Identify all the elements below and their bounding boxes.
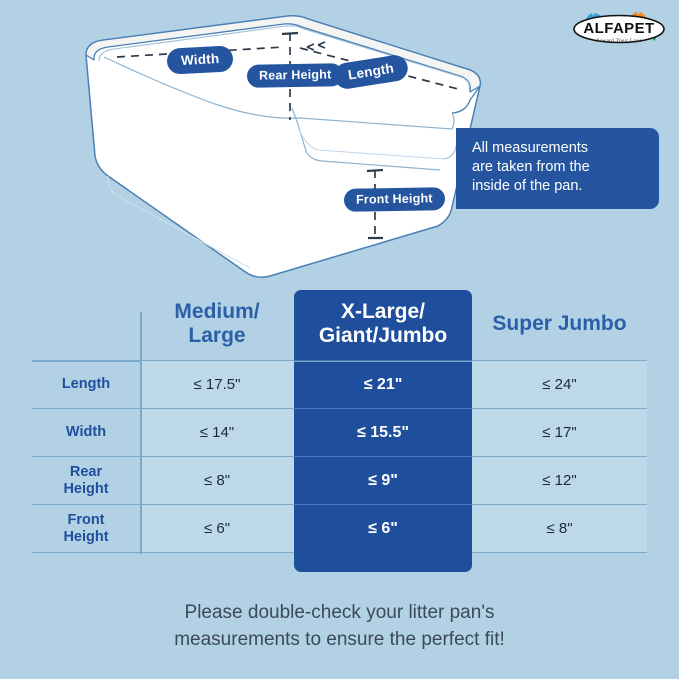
- front-height-label: Front Height: [344, 187, 445, 212]
- measurements-callout: All measurements are taken from the insi…: [456, 128, 659, 209]
- cell-front-height-xlarge: ≤ 6": [294, 505, 472, 553]
- table-row: Rear Height ≤ 8" ≤ 9" ≤ 12": [32, 457, 647, 505]
- footer-line-2: measurements to ensure the perfect fit!: [0, 627, 679, 654]
- cell-width-medium-large: ≤ 14": [140, 409, 294, 457]
- column-header-super-jumbo: Super Jumbo: [472, 288, 647, 361]
- rear-height-label: Rear Height: [247, 63, 344, 88]
- front-height-top-tick: [367, 170, 383, 171]
- cell-width-xlarge: ≤ 15.5": [294, 409, 472, 457]
- width-label-text: Width: [181, 51, 220, 68]
- cell-length-xlarge: ≤ 21": [294, 361, 472, 409]
- callout-line-2: are taken from the: [472, 158, 645, 177]
- cell-length-medium-large: ≤ 17.5": [140, 361, 294, 409]
- row-label-length-line1: Length: [32, 376, 140, 392]
- cell-front-height-medium-large: ≤ 6": [140, 505, 294, 553]
- column-header-xlarge-line1: X-Large/: [294, 300, 472, 324]
- row-label-front-height-line1: Front: [32, 512, 140, 528]
- column-header-super-jumbo-line1: Super Jumbo: [472, 312, 647, 336]
- column-header-medium-large-line1: Medium/: [140, 300, 294, 324]
- front-height-label-line1: Front: [356, 192, 389, 207]
- row-label-front-height-line2: Height: [32, 529, 140, 545]
- size-chart: Medium/ Large X-Large/ Giant/Jumbo Super…: [32, 288, 647, 588]
- cell-rear-height-super-jumbo: ≤ 12": [472, 457, 647, 505]
- length-label-text: Length: [347, 60, 395, 82]
- front-height-label-line2: Height: [392, 191, 432, 206]
- row-label-length: Length: [32, 361, 140, 409]
- row-label-rear-height-line2: Height: [32, 481, 140, 497]
- row-label-rear-height: Rear Height: [32, 457, 140, 505]
- row-label-front-height: Front Height: [32, 505, 140, 553]
- column-header-xlarge-line2: Giant/Jumbo: [294, 324, 472, 348]
- row-label-rear-height-line1: Rear: [32, 464, 140, 480]
- column-header-xlarge-giant-jumbo: X-Large/ Giant/Jumbo: [294, 288, 472, 361]
- rear-height-label-line2: Height: [291, 67, 331, 82]
- cell-width-super-jumbo: ≤ 17": [472, 409, 647, 457]
- callout-line-1: All measurements: [472, 139, 645, 158]
- cell-front-height-super-jumbo: ≤ 8": [472, 505, 647, 553]
- table-row: Front Height ≤ 6" ≤ 6" ≤ 8": [32, 505, 647, 553]
- table-row: Length ≤ 17.5" ≤ 21" ≤ 24": [32, 361, 647, 409]
- rear-height-top-tick: [282, 33, 298, 34]
- column-header-medium-large-line2: Large: [140, 324, 294, 348]
- width-label: Width: [166, 45, 234, 75]
- table-header-row: Medium/ Large X-Large/ Giant/Jumbo Super…: [32, 288, 647, 361]
- column-header-blank: [32, 288, 140, 361]
- cell-length-super-jumbo: ≤ 24": [472, 361, 647, 409]
- footer-note: Please double-check your litter pan's me…: [0, 600, 679, 654]
- row-label-width-line1: Width: [32, 424, 140, 440]
- footer-line-1: Please double-check your litter pan's: [0, 600, 679, 627]
- rear-height-label-line1: Rear: [259, 68, 288, 82]
- table-header: Medium/ Large X-Large/ Giant/Jumbo Super…: [32, 288, 647, 361]
- callout-line-3: inside of the pan.: [472, 177, 645, 196]
- column-header-medium-large: Medium/ Large: [140, 288, 294, 361]
- table-row: Width ≤ 14" ≤ 15.5" ≤ 17": [32, 409, 647, 457]
- row-label-width: Width: [32, 409, 140, 457]
- size-chart-table: Medium/ Large X-Large/ Giant/Jumbo Super…: [32, 288, 647, 553]
- cell-rear-height-xlarge: ≤ 9": [294, 457, 472, 505]
- table-body: Length ≤ 17.5" ≤ 21" ≤ 24" Width ≤ 14" ≤…: [32, 361, 647, 553]
- cell-rear-height-medium-large: ≤ 8": [140, 457, 294, 505]
